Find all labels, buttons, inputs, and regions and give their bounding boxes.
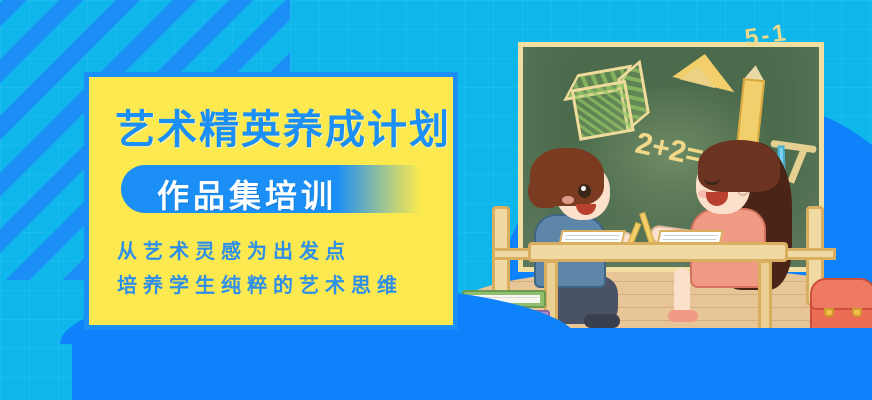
- boy-shoe: [584, 314, 620, 328]
- paper-lines-right: [662, 235, 717, 241]
- backpack-clip-right: [852, 308, 862, 317]
- promo-banner: 2+2=4 5-1: [0, 0, 872, 400]
- backpack-clip-left: [824, 308, 834, 317]
- chair-seat-right: [782, 248, 836, 260]
- subtitle-line-1: 从艺术灵感为出发点: [117, 235, 351, 264]
- course-pill-label: 作品集培训: [157, 171, 337, 217]
- girl-leg: [674, 268, 690, 316]
- paper-lines-left: [564, 235, 619, 241]
- boy-eye: [578, 184, 591, 198]
- backpack-flap: [810, 278, 872, 310]
- boy-cheek: [562, 196, 574, 204]
- desk-top: [528, 242, 788, 262]
- subtitle-line-2: 培养学生纯粹的艺术思维: [117, 269, 403, 298]
- cube-front-face: [571, 80, 635, 141]
- bottom-blue-band: [72, 328, 872, 400]
- girl-shoe: [668, 310, 698, 322]
- page-title: 艺术精英养成计划: [115, 97, 451, 155]
- course-pill-badge[interactable]: 作品集培训: [121, 165, 421, 213]
- text-card: 艺术精英养成计划 作品集培训 从艺术灵感为出发点 培养学生纯粹的艺术思维: [84, 72, 458, 330]
- boy-student: [526, 148, 622, 298]
- girl-student: [680, 140, 800, 300]
